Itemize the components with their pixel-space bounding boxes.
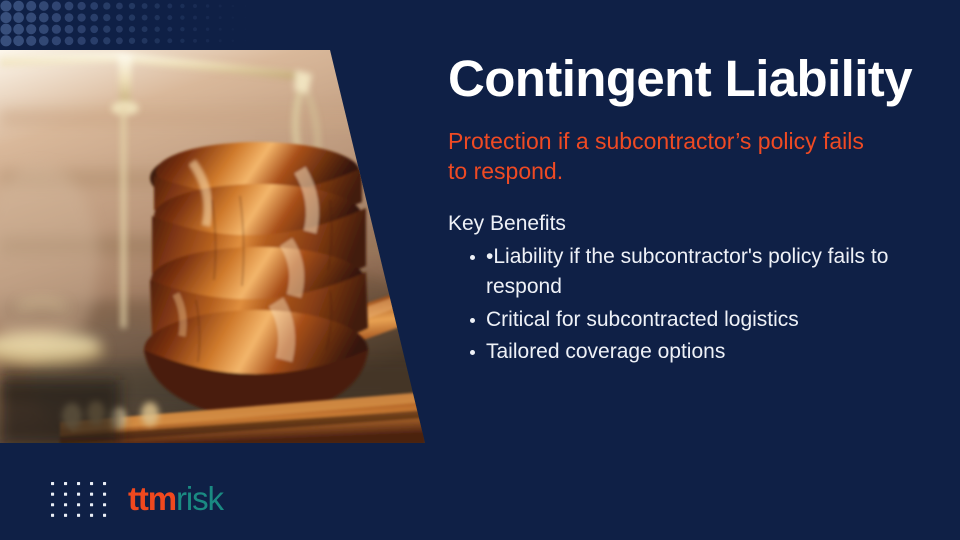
bullet-icon: [470, 318, 475, 323]
brand-logo: ttmrisk: [48, 478, 223, 518]
brand-primary-text: ttm: [128, 480, 176, 517]
slide-content: Contingent Liability Protection if a sub…: [448, 52, 918, 368]
logo-dot-grid-icon: [48, 478, 110, 518]
list-item: Critical for subcontracted logistics: [448, 305, 918, 335]
list-item: Tailored coverage options: [448, 337, 918, 367]
halftone-dot-pattern: [0, 0, 300, 48]
brand-secondary-text: risk: [176, 480, 223, 517]
slide: Contingent Liability Protection if a sub…: [0, 0, 960, 540]
bullet-icon: [470, 350, 475, 355]
page-title: Contingent Liability: [448, 52, 918, 106]
key-benefits-list: •Liability if the subcontractor's policy…: [448, 242, 918, 368]
key-benefits-label: Key Benefits: [448, 211, 918, 236]
list-item-label: Tailored coverage options: [486, 340, 725, 363]
slide-subtitle: Protection if a subcontractor’s policy f…: [448, 126, 878, 187]
gavel-image: [0, 50, 425, 444]
list-item-label: Critical for subcontracted logistics: [486, 308, 799, 331]
bullet-icon: [470, 255, 475, 260]
list-item: •Liability if the subcontractor's policy…: [448, 242, 918, 303]
brand-wordmark: ttmrisk: [128, 482, 223, 515]
list-item-label: •Liability if the subcontractor's policy…: [486, 245, 888, 298]
